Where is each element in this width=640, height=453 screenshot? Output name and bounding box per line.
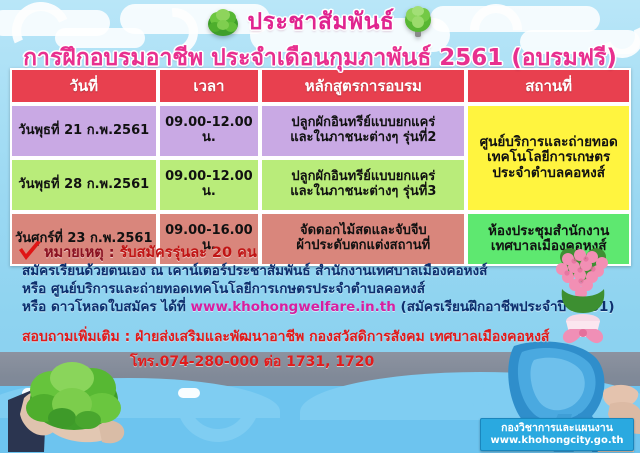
notes-section: หมายเหตุ : รับสมัครรุ่นละ 20 คน สมัครเรี… xyxy=(22,244,542,373)
notes-line-4: หรือ ดาวโหลดใบสมัคร ได้ที่ www.khohongwe… xyxy=(22,299,542,317)
poster-canvas: ประชาสัมพันธ์ การฝึกอบรมอาชีพ ประจำเดือน… xyxy=(0,0,640,453)
hands-holding-lettuce-image xyxy=(6,360,166,453)
application-url[interactable]: www.khohongwelfare.in.th xyxy=(191,299,396,315)
course-line-2: และในภาชนะต่างๆ รุ่นที่3 xyxy=(290,184,436,199)
course-line-1: จัดดอกไม้สดและจับจีบ xyxy=(300,223,427,238)
course-line-2: และในภาชนะต่างๆ รุ่นที่2 xyxy=(290,130,436,145)
notes-line-4-prefix: หรือ ดาวโหลดใบสมัคร ได้ที่ xyxy=(22,299,191,315)
cell-course: ปลูกผักอินทรีย์แบบยกแคร่ และในภาชนะต่างๆ… xyxy=(260,104,466,158)
cloud-shape xyxy=(178,388,200,398)
training-schedule-table: วันที่ เวลา หลักสูตรการอบรม สถานที่ วันพ… xyxy=(10,68,631,266)
cell-time: 09.00-12.00 น. xyxy=(158,158,261,212)
cell-course: ปลูกผักอินทรีย์แบบยกแคร่ และในภาชนะต่างๆ… xyxy=(260,158,466,212)
place-line-1: ห้องประชุมสำนักงาน xyxy=(488,223,609,239)
flower-arrangement-image xyxy=(540,243,626,351)
cell-date: วันพุธที่ 28 ก.พ.2561 xyxy=(10,158,158,212)
badge-website[interactable]: www.khohongcity.go.th xyxy=(490,435,623,448)
title-row: ประชาสัมพันธ์ xyxy=(0,4,640,40)
notes-line-2: สมัครเรียนด้วยตนเอง ณ เคาน์เตอร์ประชาสัม… xyxy=(22,263,542,281)
course-line-1: ปลูกผักอินทรีย์แบบยกแคร่ xyxy=(291,169,435,184)
cell-date: วันพุธที่ 21 ก.พ.2561 xyxy=(10,104,158,158)
course-line-1: ปลูกผักอินทรีย์แบบยกแคร่ xyxy=(291,115,435,130)
place-line-3: ประจำตำบลคอหงส์ xyxy=(492,165,605,181)
page-subtitle: การฝึกอบรมอาชีพ ประจำเดือนกุมภาพันธ์ 256… xyxy=(0,40,640,76)
cell-time: 09.00-12.00 น. xyxy=(158,104,261,158)
cell-place: ศูนย์บริการและถ่ายทอด เทคโนโลยีการเกษตร … xyxy=(466,104,631,212)
place-line-1: ศูนย์บริการและถ่ายทอด xyxy=(480,134,618,150)
checkmark-icon xyxy=(18,241,42,263)
table-row: วันพุธที่ 21 ก.พ.2561 09.00-12.00 น. ปลู… xyxy=(10,104,631,158)
page-title: ประชาสัมพันธ์ xyxy=(248,4,395,40)
badge-org-name: กองวิชาการและแผนงาน xyxy=(501,422,613,435)
lettuce-icon xyxy=(206,6,240,38)
contact-line: สอบถามเพิ่มเติม : ฝ่ายส่งเสริมและพัฒนาอา… xyxy=(22,326,542,348)
notes-line-3: หรือ ศูนย์บริการและถ่ายทอดเทคโนโลยีการเก… xyxy=(22,281,542,299)
organization-badge[interactable]: กองวิชาการและแผนงาน www.khohongcity.go.t… xyxy=(480,418,634,451)
place-line-2: เทคโนโลยีการเกษตร xyxy=(487,149,610,165)
phone-line: โทร.074-280-000 ต่อ 1731, 1720 xyxy=(22,351,542,373)
notes-headline: หมายเหตุ : รับสมัครรุ่นละ 20 คน xyxy=(22,244,542,263)
notes-label: หมายเหตุ : xyxy=(44,245,115,261)
lettuce-icon xyxy=(402,5,434,39)
notes-quota: รับสมัครรุ่นละ 20 คน xyxy=(120,245,257,261)
